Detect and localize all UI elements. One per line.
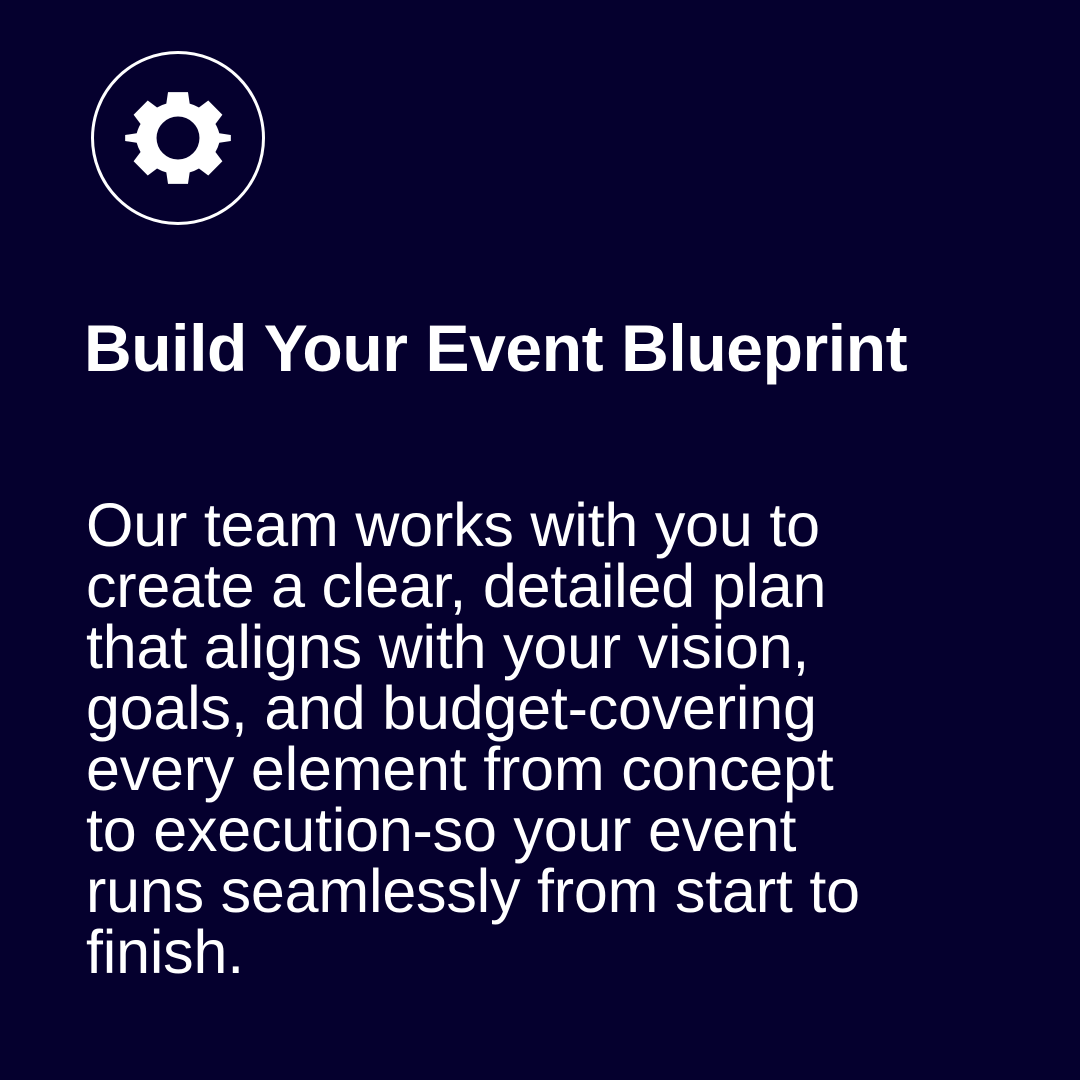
body-paragraph: Our team works with you to create a clea… [86,495,986,983]
body-line: Our team works with you to [86,495,986,556]
gear-icon [90,50,266,226]
body-line: runs seamlessly from start to [86,861,986,922]
promo-card: Build Your Event Blueprint Our team work… [0,0,1080,1080]
body-line: to execution-so your event [86,800,986,861]
body-line: every element from concept [86,739,986,800]
page-title: Build Your Event Blueprint [84,312,1024,384]
body-line: goals, and budget-covering [86,678,986,739]
body-line: create a clear, detailed plan [86,556,986,617]
body-line: that aligns with your vision, [86,617,986,678]
body-line: finish. [86,922,986,983]
